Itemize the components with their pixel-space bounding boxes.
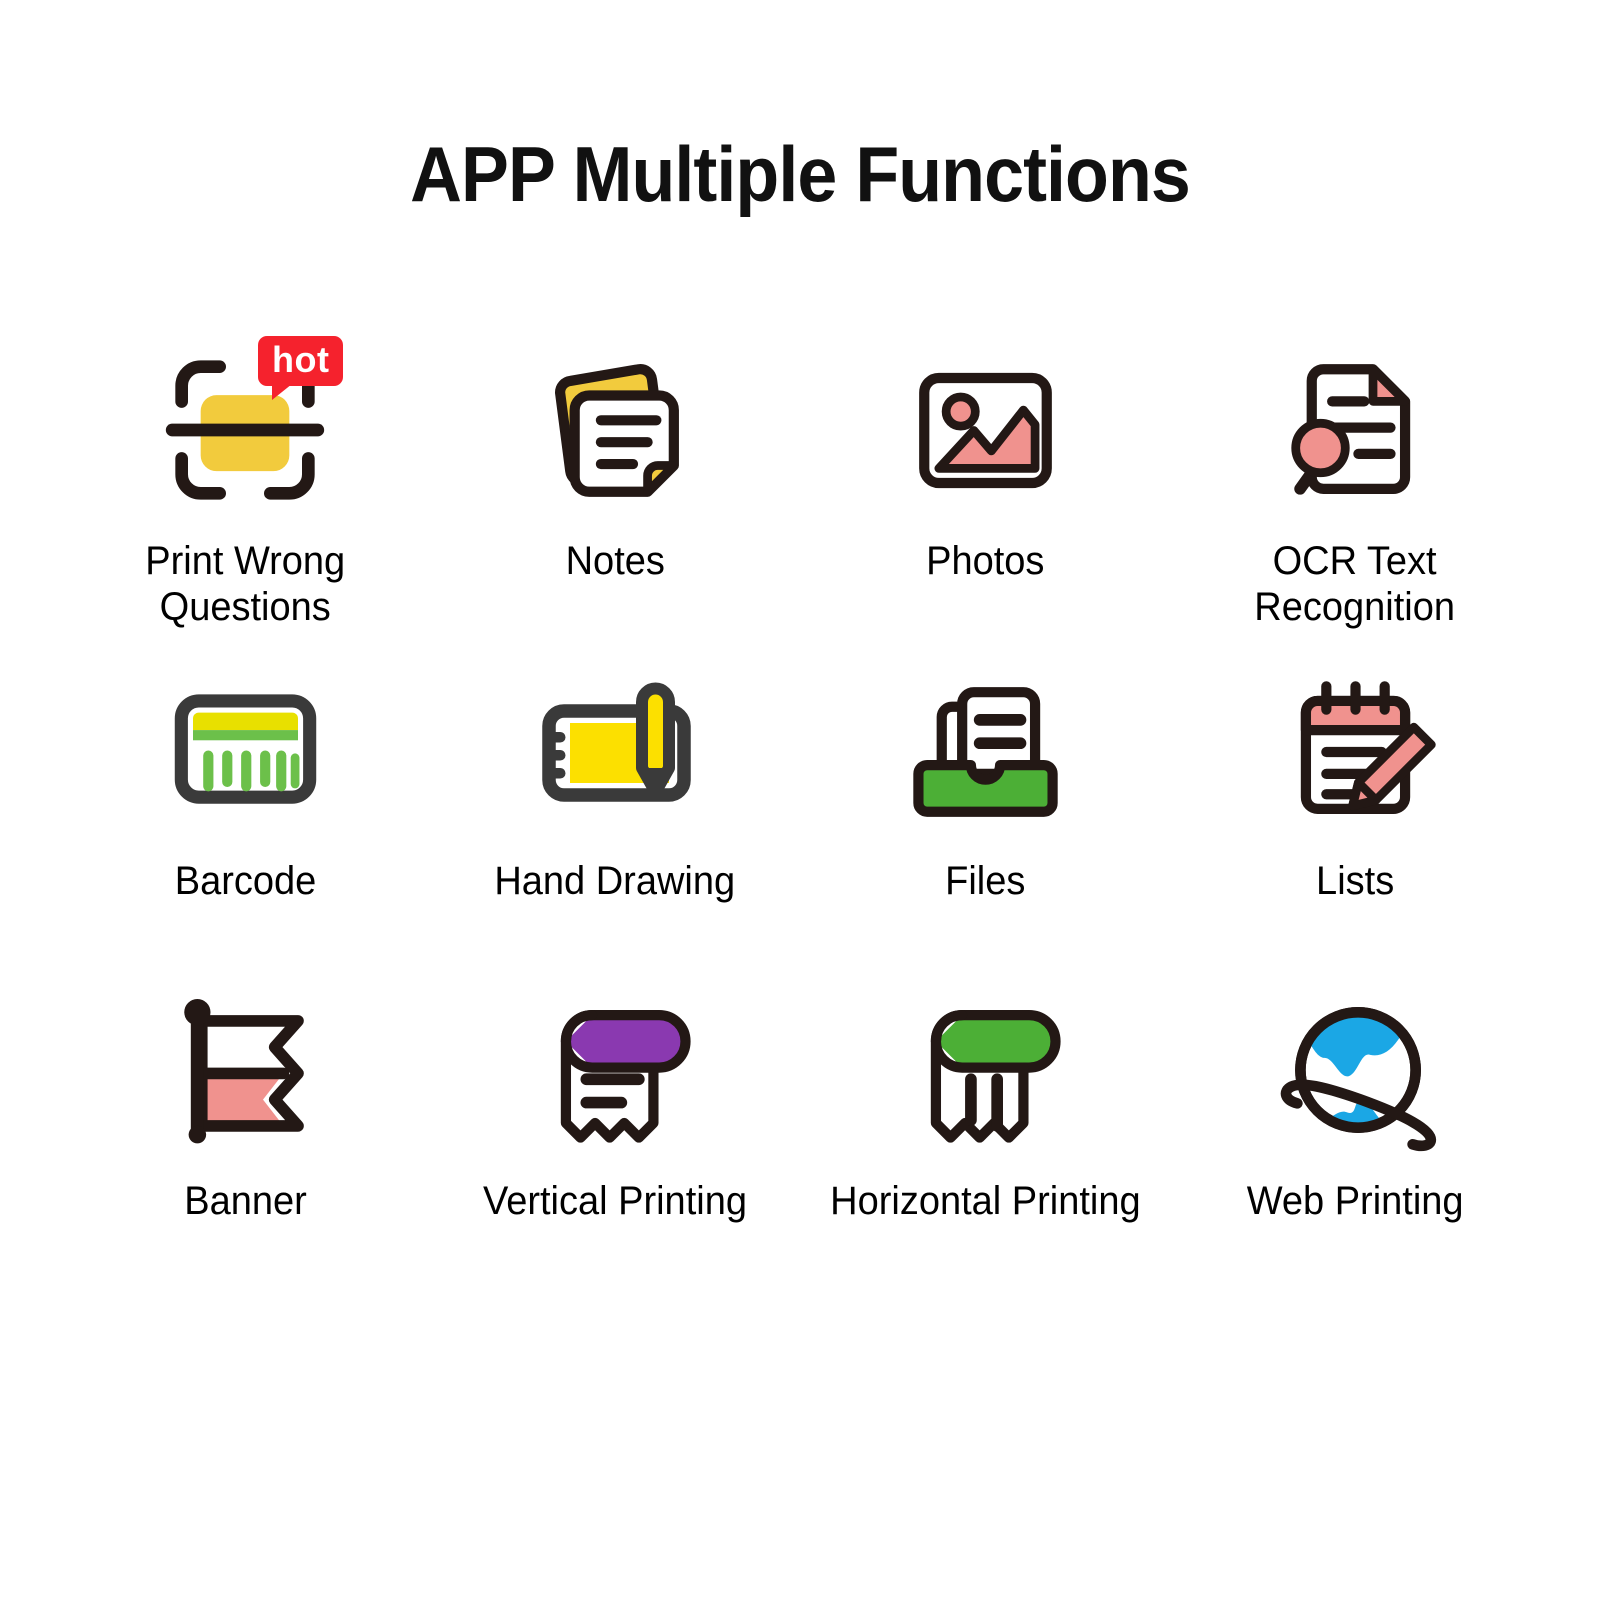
globe-icon xyxy=(1264,979,1446,1161)
feature-item-notes[interactable]: Notes xyxy=(430,330,800,650)
icon-container xyxy=(880,330,1090,530)
notes-icon xyxy=(528,343,703,518)
icon-container xyxy=(1250,650,1460,850)
icon-container xyxy=(510,650,720,850)
barcode-icon xyxy=(158,663,333,838)
feature-label: Barcode xyxy=(174,858,316,904)
feature-label: Photos xyxy=(926,538,1044,584)
flag-icon xyxy=(158,983,333,1158)
icon-container xyxy=(510,330,720,530)
receipt-vertical-icon xyxy=(528,983,703,1158)
icon-container xyxy=(140,650,350,850)
feature-label: Vertical Printing xyxy=(483,1178,747,1224)
feature-label: Lists xyxy=(1316,858,1394,904)
feature-label: Notes xyxy=(565,538,664,584)
page-title: APP Multiple Functions xyxy=(64,126,1536,222)
icon-container xyxy=(140,970,350,1170)
photo-icon xyxy=(898,343,1073,518)
feature-item-lists[interactable]: Lists xyxy=(1170,650,1540,970)
feature-item-ocr-text-recognition[interactable]: OCR Text Recognition xyxy=(1170,330,1540,650)
icon-container xyxy=(1250,330,1460,530)
icon-container xyxy=(880,650,1090,850)
feature-label: Web Printing xyxy=(1247,1178,1464,1224)
feature-item-banner[interactable]: Banner xyxy=(60,970,430,1290)
feature-item-files[interactable]: Files xyxy=(800,650,1170,970)
feature-item-barcode[interactable]: Barcode xyxy=(60,650,430,970)
icon-container xyxy=(1250,970,1460,1170)
icon-container xyxy=(880,970,1090,1170)
document-magnifier-icon xyxy=(1268,343,1443,518)
feature-label: Files xyxy=(945,858,1025,904)
feature-item-horizontal-printing[interactable]: Horizontal Printing xyxy=(800,970,1170,1290)
feature-item-photos[interactable]: Photos xyxy=(800,330,1170,650)
feature-label: OCR Text Recognition xyxy=(1255,538,1456,630)
receipt-horizontal-icon xyxy=(898,983,1073,1158)
feature-item-print-wrong-questions[interactable]: hot Print Wrong Questions xyxy=(60,330,430,650)
feature-label: Hand Drawing xyxy=(495,858,736,904)
feature-label: Banner xyxy=(184,1178,307,1224)
feature-label: Horizontal Printing xyxy=(830,1178,1140,1224)
notepad-pencil-icon xyxy=(1268,663,1443,838)
icon-container: hot xyxy=(140,330,350,530)
file-tray-icon xyxy=(898,663,1073,838)
drawing-tablet-icon xyxy=(525,660,705,840)
feature-grid: hot Print Wrong Questions Notes xyxy=(60,330,1540,1290)
icon-container xyxy=(510,970,720,1170)
feature-item-hand-drawing[interactable]: Hand Drawing xyxy=(430,650,800,970)
feature-item-vertical-printing[interactable]: Vertical Printing xyxy=(430,970,800,1290)
app-functions-poster: APP Multiple Functions hot Print Wrong Q… xyxy=(0,0,1600,1600)
feature-item-web-printing[interactable]: Web Printing xyxy=(1170,970,1540,1290)
hot-badge: hot xyxy=(258,336,343,386)
feature-label: Print Wrong Questions xyxy=(145,538,345,630)
